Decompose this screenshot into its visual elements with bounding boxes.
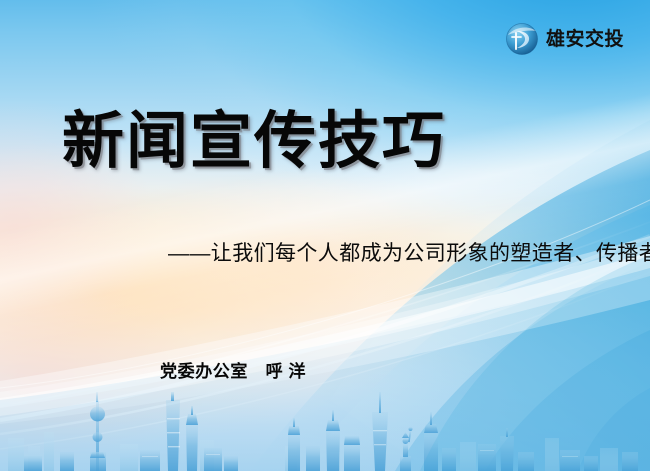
- background-decoration: [0, 0, 650, 471]
- xiongan-jiaotou-globe-logo-icon: [505, 22, 539, 56]
- slide-author: 党委办公室 呼 洋: [160, 357, 306, 382]
- brand-logo: 雄安交投: [505, 22, 624, 56]
- slide-title: 新闻宣传技巧: [62, 108, 446, 177]
- brand-name: 雄安交投: [546, 30, 624, 49]
- title-slide: 雄安交投 新闻宣传技巧 ——让我们每个人都成为公司形象的塑造者、传播者 党委办公…: [0, 0, 650, 471]
- shanghai-tower: [166, 392, 180, 471]
- jin-mao-tower: [186, 406, 198, 471]
- slide-subtitle: ——让我们每个人都成为公司形象的塑造者、传播者: [168, 237, 650, 267]
